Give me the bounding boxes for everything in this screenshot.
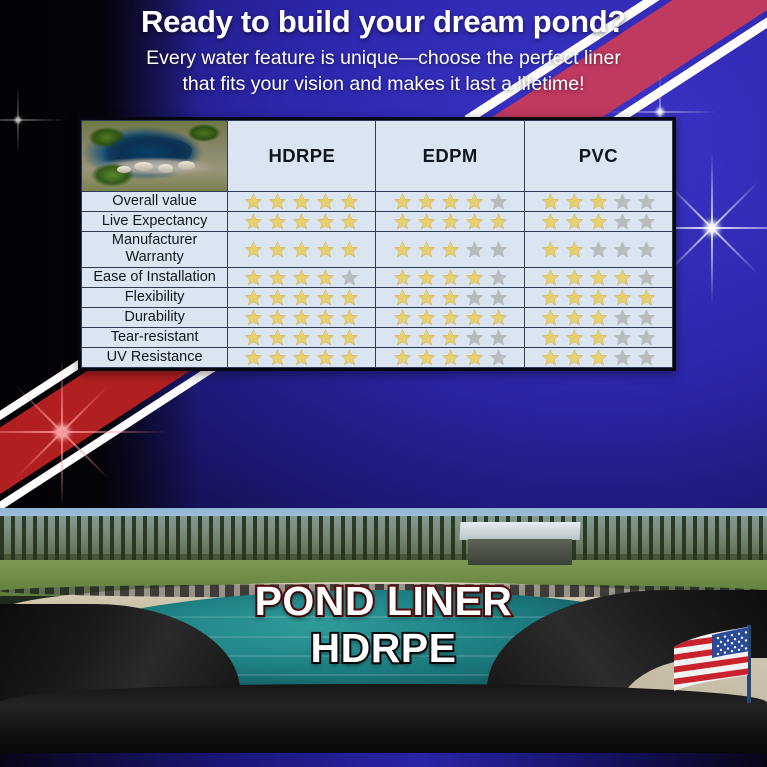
- star-rating: [376, 348, 523, 367]
- star-filled-icon: [465, 212, 484, 231]
- comparison-table-container: HDRPE EDPM PVC Overall valueLive Expecta…: [78, 117, 676, 371]
- star-filled-icon: [541, 308, 560, 327]
- star-filled-icon: [268, 192, 287, 211]
- star-empty-icon: [613, 212, 632, 231]
- rating-cell-hdrpe: [228, 307, 376, 327]
- star-filled-icon: [541, 240, 560, 259]
- row-label-durability: Durability: [82, 307, 228, 327]
- star-filled-icon: [465, 192, 484, 211]
- table-corner-image-cell: [82, 121, 228, 192]
- star-filled-icon: [541, 268, 560, 287]
- star-filled-icon: [589, 328, 608, 347]
- rating-cell-edpm: [376, 212, 524, 232]
- star-filled-icon: [565, 240, 584, 259]
- row-label-live-expectancy: Live Expectancy: [82, 212, 228, 232]
- star-rating: [525, 328, 672, 347]
- star-empty-icon: [637, 192, 656, 211]
- star-filled-icon: [393, 288, 412, 307]
- star-filled-icon: [565, 192, 584, 211]
- liner-comparison-table: HDRPE EDPM PVC Overall valueLive Expecta…: [81, 120, 673, 368]
- rating-cell-pvc: [524, 267, 672, 287]
- star-empty-icon: [637, 268, 656, 287]
- table-row: UV Resistance: [82, 347, 673, 367]
- rating-cell-hdrpe: [228, 192, 376, 212]
- star-filled-icon: [292, 348, 311, 367]
- star-rating: [525, 212, 672, 231]
- barn-building: [460, 522, 580, 566]
- star-filled-icon: [268, 308, 287, 327]
- star-filled-icon: [541, 328, 560, 347]
- star-rating: [376, 328, 523, 347]
- star-empty-icon: [489, 268, 508, 287]
- rating-cell-pvc: [524, 307, 672, 327]
- photo-title-line-1: POND LINER: [0, 580, 767, 623]
- star-filled-icon: [637, 288, 656, 307]
- star-empty-icon: [613, 328, 632, 347]
- star-rating: [376, 192, 523, 211]
- star-filled-icon: [613, 268, 632, 287]
- star-filled-icon: [268, 268, 287, 287]
- rating-cell-hdrpe: [228, 287, 376, 307]
- rating-cell-pvc: [524, 327, 672, 347]
- rating-cell-hdrpe: [228, 327, 376, 347]
- star-filled-icon: [292, 192, 311, 211]
- rating-cell-pvc: [524, 347, 672, 367]
- rating-cell-pvc: [524, 192, 672, 212]
- star-filled-icon: [417, 212, 436, 231]
- star-filled-icon: [268, 240, 287, 259]
- row-label-manufacturer-warranty: Manufacturer Warranty: [82, 232, 228, 268]
- star-filled-icon: [541, 348, 560, 367]
- star-filled-icon: [292, 308, 311, 327]
- star-empty-icon: [465, 240, 484, 259]
- star-empty-icon: [613, 348, 632, 367]
- star-empty-icon: [489, 192, 508, 211]
- star-rating: [228, 348, 375, 367]
- star-filled-icon: [244, 240, 263, 259]
- star-empty-icon: [613, 308, 632, 327]
- star-rating: [376, 288, 523, 307]
- star-filled-icon: [393, 308, 412, 327]
- table-body: Overall valueLive ExpectancyManufacturer…: [82, 192, 673, 368]
- rating-cell-edpm: [376, 347, 524, 367]
- star-filled-icon: [465, 348, 484, 367]
- star-rating: [376, 240, 523, 259]
- star-rating: [376, 308, 523, 327]
- american-flag-icon: [668, 617, 760, 703]
- star-filled-icon: [316, 212, 335, 231]
- star-filled-icon: [244, 288, 263, 307]
- table-row: Live Expectancy: [82, 212, 673, 232]
- star-filled-icon: [565, 268, 584, 287]
- star-rating: [525, 348, 672, 367]
- star-rating: [525, 268, 672, 287]
- star-filled-icon: [340, 212, 359, 231]
- star-rating: [228, 268, 375, 287]
- rating-cell-edpm: [376, 287, 524, 307]
- star-filled-icon: [417, 240, 436, 259]
- star-filled-icon: [565, 212, 584, 231]
- star-filled-icon: [244, 328, 263, 347]
- row-label-overall-value: Overall value: [82, 192, 228, 212]
- star-rating: [525, 308, 672, 327]
- rating-cell-edpm: [376, 267, 524, 287]
- rating-cell-pvc: [524, 232, 672, 268]
- rating-cell-edpm: [376, 192, 524, 212]
- star-rating: [376, 268, 523, 287]
- rating-cell-pvc: [524, 287, 672, 307]
- row-label-flexibility: Flexibility: [82, 287, 228, 307]
- star-empty-icon: [589, 240, 608, 259]
- table-row: Ease of Installation: [82, 267, 673, 287]
- star-filled-icon: [244, 268, 263, 287]
- rating-cell-hdrpe: [228, 267, 376, 287]
- pond-thumbnail-image: [82, 121, 227, 191]
- star-filled-icon: [441, 308, 460, 327]
- star-empty-icon: [613, 192, 632, 211]
- star-filled-icon: [565, 348, 584, 367]
- star-empty-icon: [465, 328, 484, 347]
- star-filled-icon: [244, 308, 263, 327]
- star-filled-icon: [393, 212, 412, 231]
- star-filled-icon: [292, 240, 311, 259]
- star-filled-icon: [393, 268, 412, 287]
- column-header-edpm: EDPM: [376, 121, 524, 192]
- star-filled-icon: [589, 308, 608, 327]
- photo-title-line-2: HDRPE: [0, 627, 767, 670]
- star-rating: [228, 192, 375, 211]
- star-filled-icon: [441, 288, 460, 307]
- star-filled-icon: [441, 328, 460, 347]
- star-empty-icon: [637, 240, 656, 259]
- star-empty-icon: [489, 348, 508, 367]
- star-filled-icon: [292, 212, 311, 231]
- table-header-row: HDRPE EDPM PVC: [82, 121, 673, 192]
- star-filled-icon: [340, 240, 359, 259]
- star-filled-icon: [441, 240, 460, 259]
- row-label-uv-resistance: UV Resistance: [82, 347, 228, 367]
- star-rating: [228, 308, 375, 327]
- star-rating: [228, 240, 375, 259]
- photo-title-block: POND LINER HDRPE: [0, 580, 767, 670]
- star-filled-icon: [316, 288, 335, 307]
- star-filled-icon: [316, 348, 335, 367]
- star-filled-icon: [417, 268, 436, 287]
- star-empty-icon: [340, 268, 359, 287]
- rating-cell-hdrpe: [228, 232, 376, 268]
- star-filled-icon: [589, 268, 608, 287]
- star-rating: [525, 192, 672, 211]
- rating-cell-hdrpe: [228, 347, 376, 367]
- pond-photo: POND LINER HDRPE: [0, 508, 767, 753]
- star-filled-icon: [316, 308, 335, 327]
- star-filled-icon: [417, 308, 436, 327]
- star-empty-icon: [613, 240, 632, 259]
- star-rating: [525, 288, 672, 307]
- star-empty-icon: [489, 328, 508, 347]
- star-filled-icon: [340, 308, 359, 327]
- star-filled-icon: [441, 348, 460, 367]
- star-empty-icon: [637, 212, 656, 231]
- star-filled-icon: [340, 348, 359, 367]
- rating-cell-pvc: [524, 212, 672, 232]
- star-filled-icon: [393, 192, 412, 211]
- star-filled-icon: [244, 192, 263, 211]
- star-filled-icon: [541, 212, 560, 231]
- star-filled-icon: [393, 240, 412, 259]
- rating-cell-edpm: [376, 307, 524, 327]
- star-filled-icon: [268, 288, 287, 307]
- star-empty-icon: [637, 308, 656, 327]
- star-filled-icon: [565, 288, 584, 307]
- star-filled-icon: [244, 348, 263, 367]
- star-filled-icon: [489, 212, 508, 231]
- star-filled-icon: [589, 192, 608, 211]
- star-filled-icon: [465, 308, 484, 327]
- star-rating: [376, 212, 523, 231]
- star-filled-icon: [244, 212, 263, 231]
- star-empty-icon: [489, 288, 508, 307]
- star-empty-icon: [465, 288, 484, 307]
- star-filled-icon: [589, 288, 608, 307]
- star-filled-icon: [441, 212, 460, 231]
- row-label-ease-of-installation: Ease of Installation: [82, 267, 228, 287]
- star-filled-icon: [417, 192, 436, 211]
- star-filled-icon: [417, 328, 436, 347]
- table-row: Overall value: [82, 192, 673, 212]
- table-row: Manufacturer Warranty: [82, 232, 673, 268]
- star-filled-icon: [393, 348, 412, 367]
- star-filled-icon: [541, 192, 560, 211]
- star-empty-icon: [637, 328, 656, 347]
- bottom-accent-strip: [0, 753, 767, 767]
- star-empty-icon: [489, 240, 508, 259]
- poster-canvas: Ready to build your dream pond? Every wa…: [0, 0, 767, 767]
- star-filled-icon: [589, 348, 608, 367]
- star-filled-icon: [340, 192, 359, 211]
- star-filled-icon: [541, 288, 560, 307]
- rating-cell-hdrpe: [228, 212, 376, 232]
- rating-cell-edpm: [376, 232, 524, 268]
- column-header-hdrpe: HDRPE: [228, 121, 376, 192]
- row-label-tear-resistant: Tear-resistant: [82, 327, 228, 347]
- star-rating: [228, 212, 375, 231]
- star-filled-icon: [613, 288, 632, 307]
- rating-cell-edpm: [376, 327, 524, 347]
- column-header-pvc: PVC: [524, 121, 672, 192]
- star-filled-icon: [441, 268, 460, 287]
- star-filled-icon: [268, 212, 287, 231]
- star-filled-icon: [292, 288, 311, 307]
- star-filled-icon: [417, 288, 436, 307]
- star-filled-icon: [417, 348, 436, 367]
- star-filled-icon: [292, 328, 311, 347]
- star-filled-icon: [565, 328, 584, 347]
- star-rating: [228, 288, 375, 307]
- table-row: Flexibility: [82, 287, 673, 307]
- headline-subtitle-line-2: that fits your vision and makes it last …: [40, 71, 727, 97]
- star-rating: [525, 240, 672, 259]
- star-filled-icon: [589, 212, 608, 231]
- star-filled-icon: [465, 268, 484, 287]
- table-row: Tear-resistant: [82, 327, 673, 347]
- star-filled-icon: [565, 308, 584, 327]
- star-filled-icon: [340, 288, 359, 307]
- star-empty-icon: [637, 348, 656, 367]
- star-filled-icon: [316, 328, 335, 347]
- star-filled-icon: [316, 268, 335, 287]
- table-row: Durability: [82, 307, 673, 327]
- star-filled-icon: [393, 328, 412, 347]
- star-filled-icon: [316, 192, 335, 211]
- star-filled-icon: [489, 308, 508, 327]
- star-filled-icon: [268, 348, 287, 367]
- headline-block: Ready to build your dream pond? Every wa…: [0, 4, 767, 97]
- star-filled-icon: [316, 240, 335, 259]
- headline-subtitle-line-1: Every water feature is unique—choose the…: [40, 45, 727, 71]
- star-filled-icon: [268, 328, 287, 347]
- pond-liner-foreground: [0, 684, 767, 753]
- star-filled-icon: [292, 268, 311, 287]
- star-filled-icon: [340, 328, 359, 347]
- star-rating: [228, 328, 375, 347]
- star-filled-icon: [441, 192, 460, 211]
- page-title: Ready to build your dream pond?: [40, 4, 727, 40]
